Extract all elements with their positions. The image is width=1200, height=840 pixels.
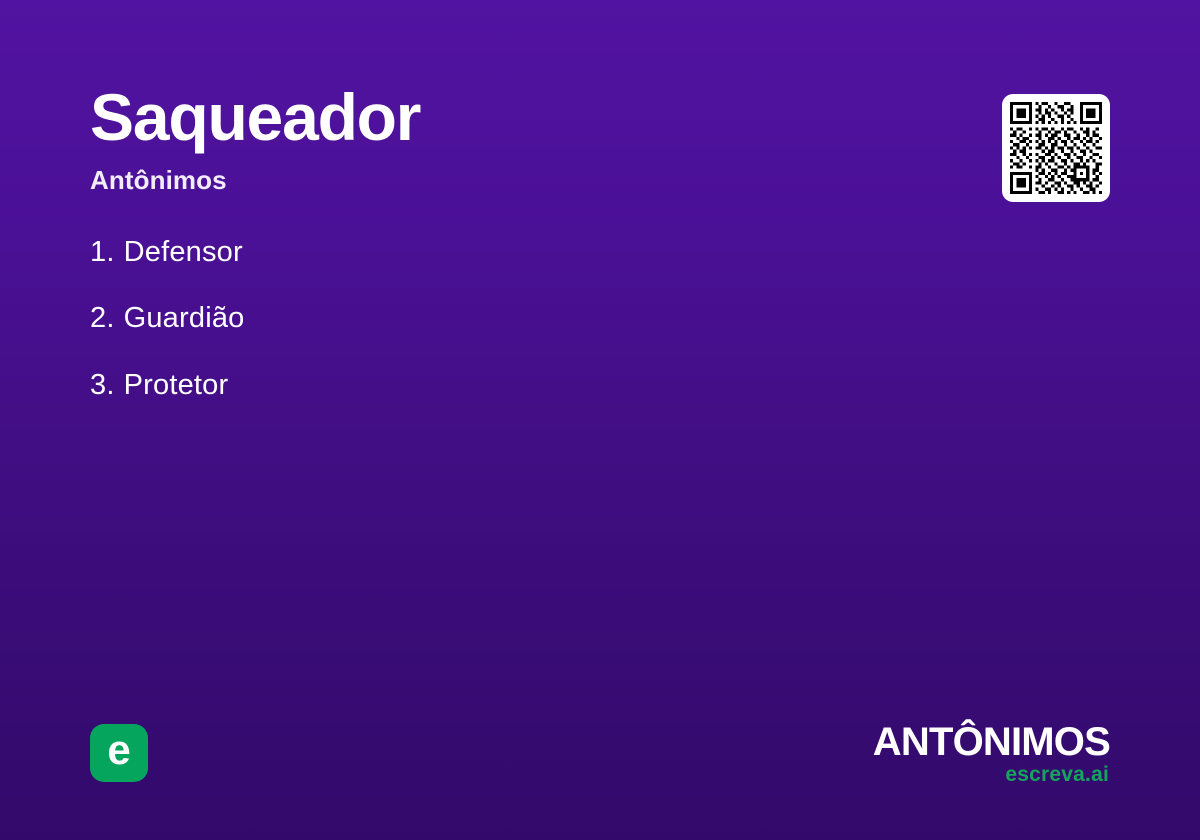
card-header: Saqueador Antônimos bbox=[90, 84, 950, 195]
list-item-index: 3. bbox=[90, 369, 115, 402]
list-item-index: 2. bbox=[90, 302, 115, 335]
list-item: 2. Guardião bbox=[90, 302, 790, 335]
list-item-label: Defensor bbox=[124, 236, 243, 269]
list-item-index: 1. bbox=[90, 236, 115, 269]
footer-logo-main: ANTÔNIMOS bbox=[873, 722, 1110, 762]
page-title: Saqueador bbox=[90, 84, 950, 150]
antonyms-list: 1. Defensor 2. Guardião 3. Protetor bbox=[90, 236, 790, 435]
qr-code-icon[interactable] bbox=[1002, 94, 1110, 202]
antonyms-card: Saqueador Antônimos bbox=[0, 0, 1200, 840]
qr-code-modules bbox=[1010, 102, 1102, 194]
list-item-label: Protetor bbox=[124, 369, 229, 402]
footer-logo-sub: escreva.ai bbox=[873, 764, 1109, 785]
brand-badge-letter: e bbox=[107, 729, 130, 771]
page-subtitle: Antônimos bbox=[90, 166, 950, 195]
brand-badge-icon: e bbox=[90, 724, 148, 782]
list-item: 3. Protetor bbox=[90, 369, 790, 402]
footer-logo: ANTÔNIMOS escreva.ai bbox=[873, 722, 1110, 785]
list-item: 1. Defensor bbox=[90, 236, 790, 269]
list-item-label: Guardião bbox=[124, 302, 245, 335]
